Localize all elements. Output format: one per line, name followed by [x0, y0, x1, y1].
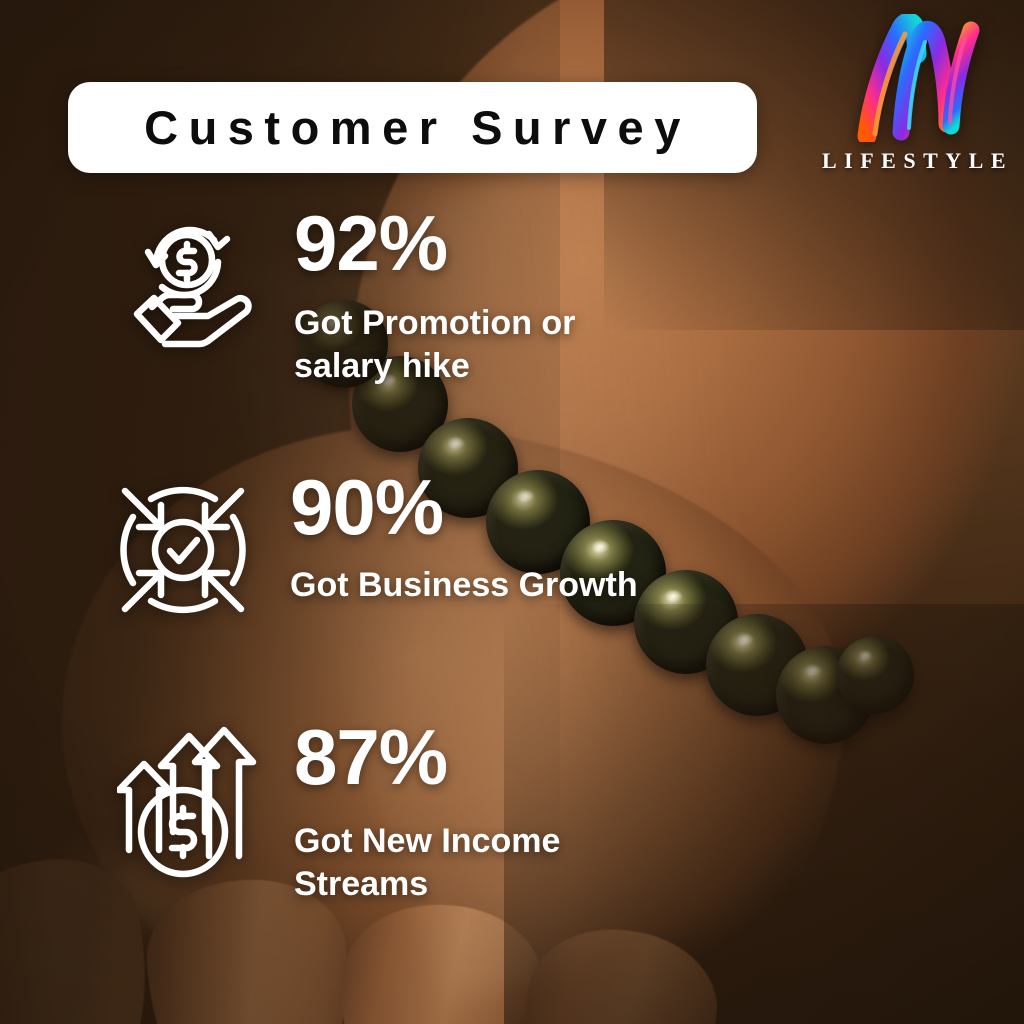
stat-label-line: salary hike	[294, 347, 470, 385]
stat-item: 90% Got Business Growth	[108, 470, 638, 630]
survey-poster: Customer Survey	[0, 0, 1024, 1024]
stat-label-line: Got New Income	[294, 822, 560, 860]
stat-value: 87%	[294, 722, 560, 794]
stat-label-line: Got Business Growth	[290, 566, 638, 604]
stat-label-line: Streams	[294, 865, 428, 903]
stat-label: Got New Income Streams	[294, 820, 560, 907]
stat-item: 92% Got Promotion or salary hike	[112, 208, 575, 389]
stat-item: 87% Got New Income Streams	[112, 722, 560, 907]
stat-value: 90%	[290, 472, 638, 544]
stats-list: 92% Got Promotion or salary hike	[0, 0, 1024, 1024]
stat-body: 90% Got Business Growth	[258, 470, 638, 607]
stat-label-line: Got Promotion or	[294, 304, 575, 342]
stat-label: Got Promotion or salary hike	[294, 302, 575, 389]
hand-holding-money-cycle-icon	[112, 208, 262, 368]
stat-body: 92% Got Promotion or salary hike	[262, 208, 575, 389]
stat-value: 92%	[294, 208, 575, 280]
target-check-arrows-icon	[108, 470, 258, 630]
stat-body: 87% Got New Income Streams	[262, 722, 560, 907]
growth-arrows-coin-icon	[112, 722, 262, 882]
stat-label: Got Business Growth	[290, 564, 638, 608]
